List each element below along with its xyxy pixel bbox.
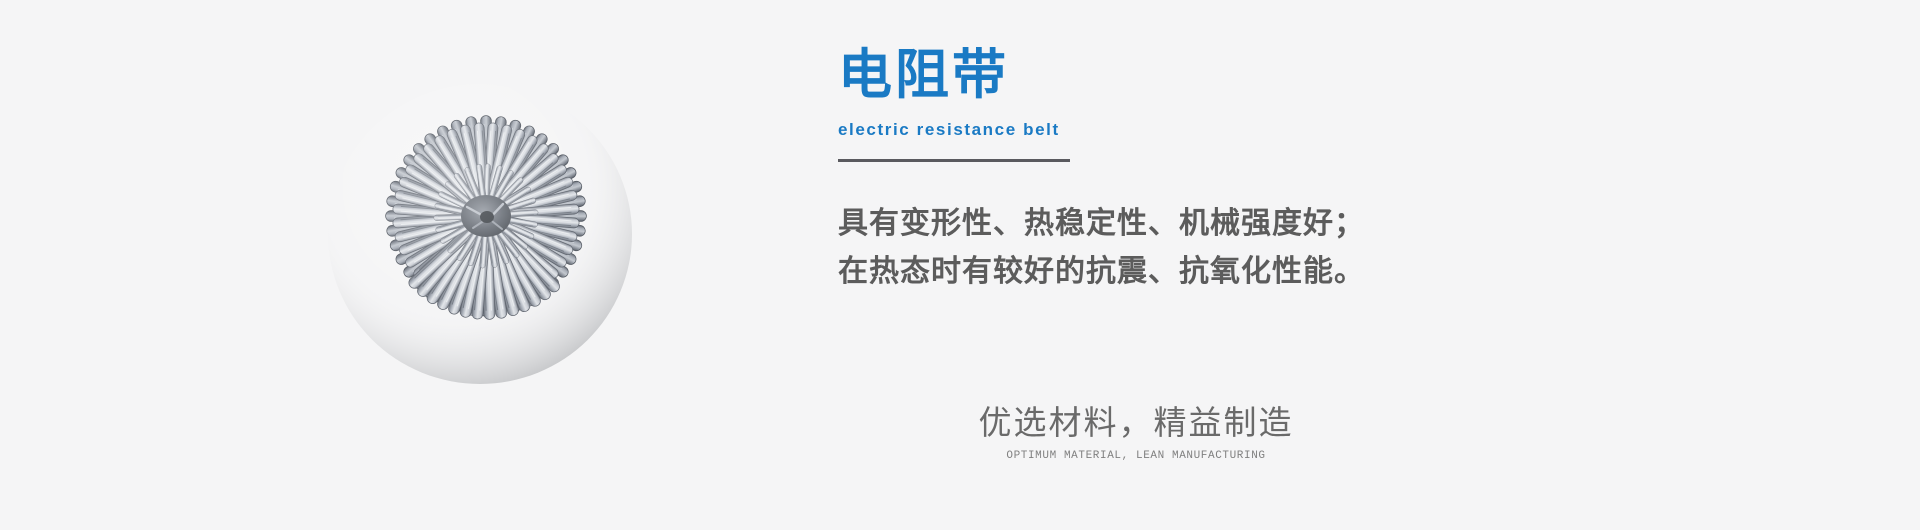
tagline-english: OPTIMUM MATERIAL, LEAN MANUFACTURING xyxy=(956,448,1316,464)
product-image xyxy=(288,44,688,444)
page-subtitle: electric resistance belt xyxy=(838,118,1538,142)
page-title: 电阻带 xyxy=(838,44,1538,106)
title-divider xyxy=(838,159,1070,162)
description-line-1: 具有变形性、热稳定性、机械强度好； xyxy=(838,200,1538,248)
resistance-belt-illustration xyxy=(288,44,688,444)
description-line-2: 在热态时有较好的抗震、抗氧化性能。 xyxy=(838,248,1538,296)
tagline-chinese: 优选材料，精益制造 xyxy=(956,402,1316,444)
product-description: 具有变形性、热稳定性、机械强度好； 在热态时有较好的抗震、抗氧化性能。 xyxy=(838,200,1538,296)
tagline-block: 优选材料，精益制造 OPTIMUM MATERIAL, LEAN MANUFAC… xyxy=(956,402,1316,464)
product-banner: 电阻带 electric resistance belt 具有变形性、热稳定性、… xyxy=(0,0,1920,530)
product-text-column: 电阻带 electric resistance belt 具有变形性、热稳定性、… xyxy=(838,44,1538,296)
